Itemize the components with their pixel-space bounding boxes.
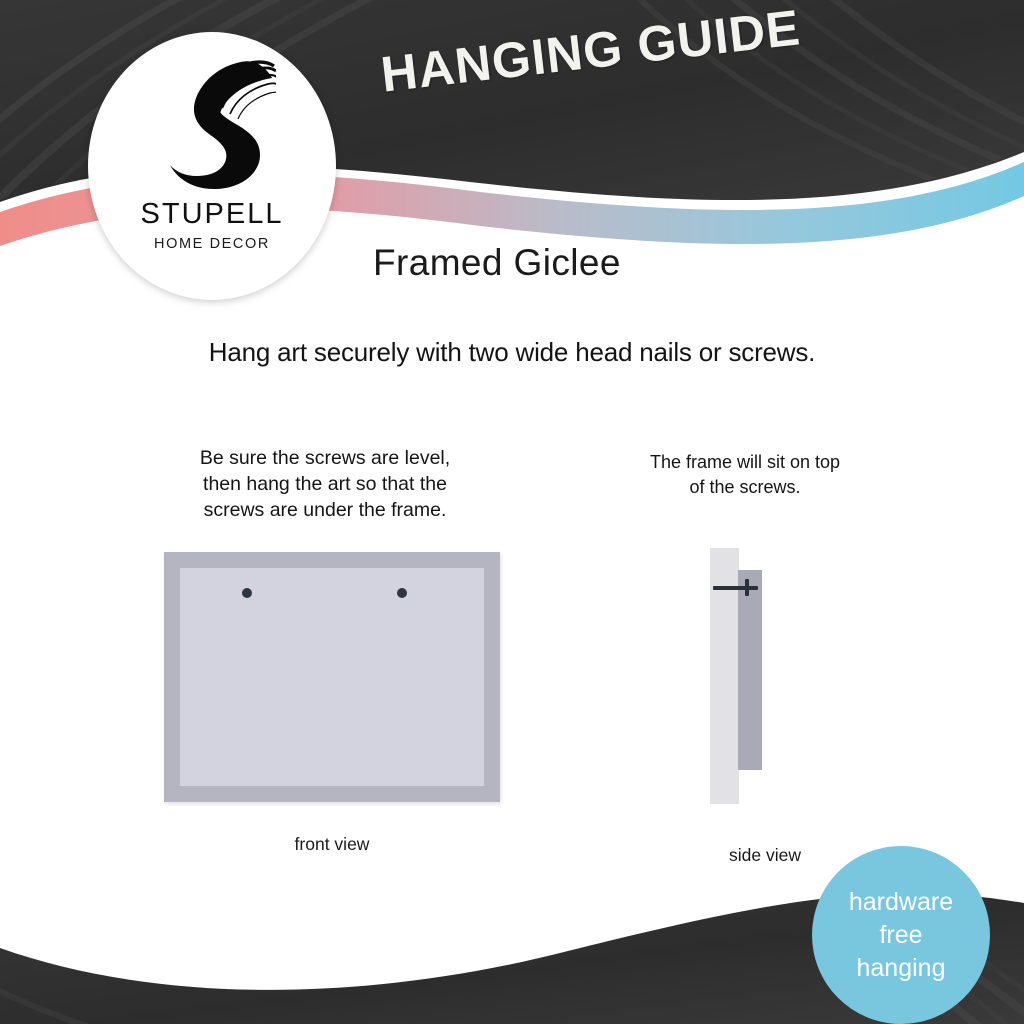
nail-head-icon <box>745 579 749 596</box>
logo-tagline: HOME DECOR <box>154 236 270 252</box>
front-instruction-line-1: Be sure the screws are level, <box>160 445 490 471</box>
frame-artwork-area <box>180 568 484 786</box>
hanging-guide-infographic: STUPELL HOME DECOR HANGING GUIDE Framed … <box>0 0 1024 1024</box>
side-view-frame <box>738 570 762 770</box>
hardware-free-hanging-badge: hardware free hanging <box>812 846 990 1024</box>
product-type-title: Framed Giclee <box>373 242 621 284</box>
side-instruction-line-2: of the screws. <box>600 475 890 500</box>
side-instruction-line-1: The frame will sit on top <box>600 450 890 475</box>
front-view-instructions: Be sure the screws are level, then hang … <box>160 445 490 523</box>
page-title: HANGING GUIDE <box>378 0 803 104</box>
front-instruction-line-2: then hang the art so that the <box>160 471 490 497</box>
screw-dot-left-icon <box>242 588 252 598</box>
brand-logo-badge: STUPELL HOME DECOR <box>88 32 336 300</box>
front-instruction-line-3: screws are under the frame. <box>160 497 490 523</box>
screw-dot-right-icon <box>397 588 407 598</box>
nail-shaft-icon <box>713 586 758 590</box>
side-view-instructions: The frame will sit on top of the screws. <box>600 450 890 500</box>
logo-wordmark: STUPELL <box>141 198 284 231</box>
badge-line-2: free <box>879 919 922 952</box>
badge-line-3: hanging <box>857 952 946 985</box>
front-view-frame-diagram <box>164 552 500 802</box>
stupell-swoosh-logo-icon <box>148 56 276 194</box>
main-instruction-text: Hang art securely with two wide head nai… <box>0 337 1024 368</box>
front-view-caption: front view <box>164 834 500 855</box>
badge-line-1: hardware <box>849 886 953 919</box>
